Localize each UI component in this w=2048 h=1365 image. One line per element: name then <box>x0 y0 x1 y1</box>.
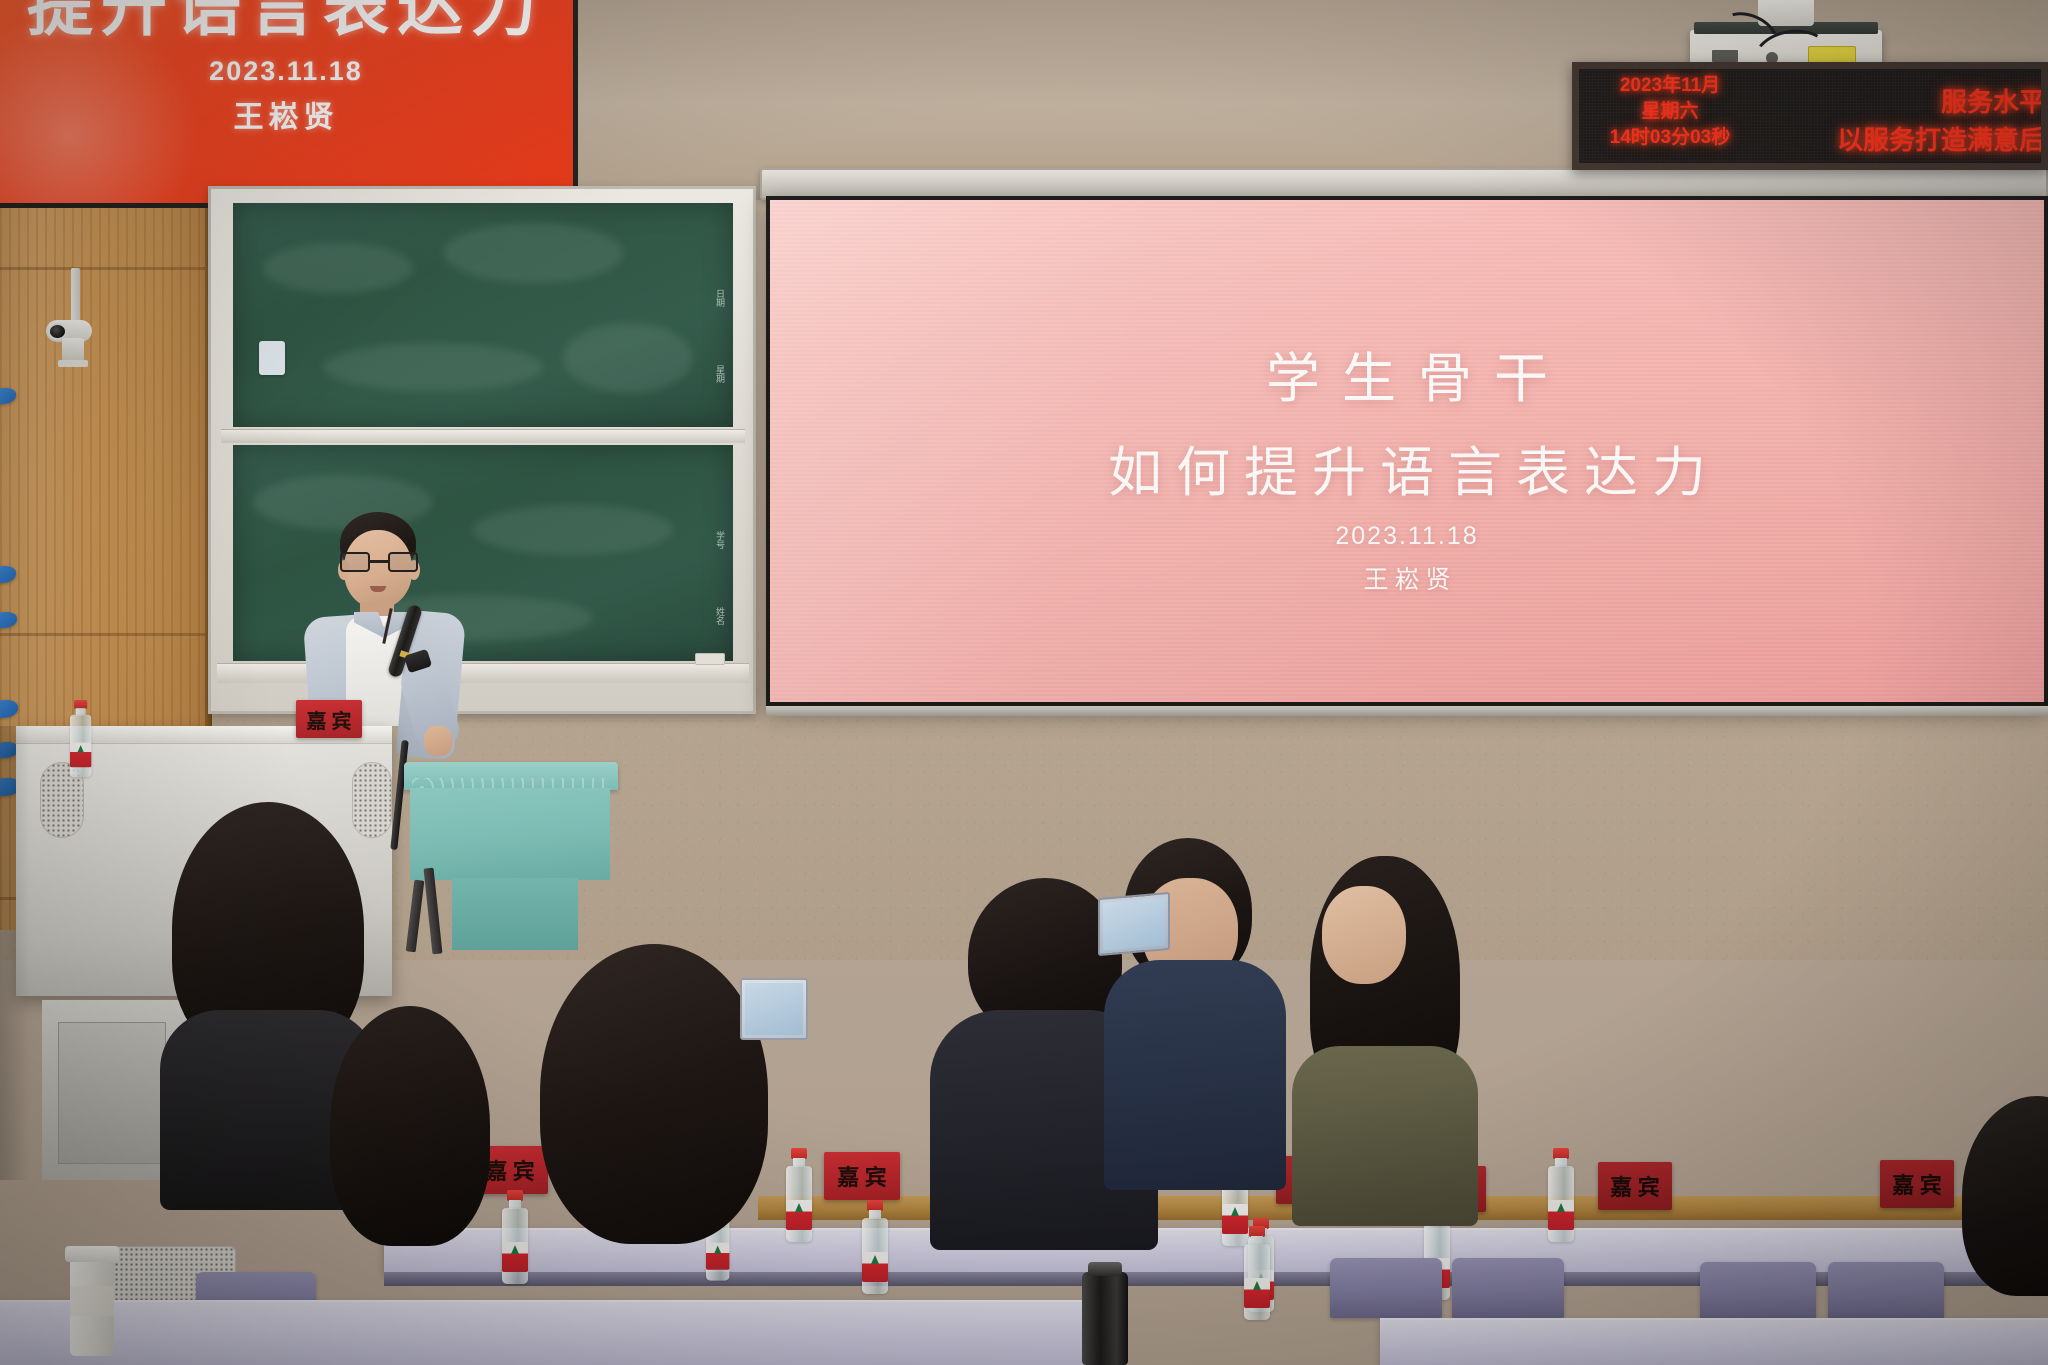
lectern-body <box>410 788 610 880</box>
board-column-label-4: 姓名 <box>709 581 725 651</box>
secondary-led-banner: 提升语言表达力 2023.11.18 王崧贤 <box>0 0 578 208</box>
name-card-6: 嘉宾 <box>1598 1162 1672 1210</box>
podium-cabinet-door-left[interactable] <box>58 1022 166 1164</box>
led-slogan-line1: 服务水平 <box>1733 83 2045 121</box>
led-date: 2023年11月 <box>1587 73 1753 99</box>
laptop-icon[interactable] <box>740 978 808 1040</box>
projection-screen-bottom-bar <box>766 706 2048 716</box>
coffee-cup-icon[interactable] <box>68 1246 116 1356</box>
chalkboard-mid-rail <box>221 429 745 443</box>
chalkboard-upper-pane <box>233 203 733 427</box>
board-column-label-2: 星期 <box>709 339 725 409</box>
led-slogan-block: 服务水平 以服务打造满意后 <box>1733 83 2045 159</box>
lectern-base <box>452 878 578 950</box>
presenter-glasses <box>340 552 418 572</box>
chair-3 <box>1700 1262 1816 1322</box>
projection-screen-frame: 学生骨干 如何提升语言表达力 2023.11.18 王崧贤 <box>766 196 2048 706</box>
lectern-trim <box>412 778 610 788</box>
board-column-label-3: 学号 <box>709 505 725 575</box>
desk-row-front-right <box>1380 1318 2048 1365</box>
presenter-right-hand <box>424 726 452 756</box>
slide-presenter: 王崧贤 <box>770 560 2044 596</box>
slide-title-line2: 如何提升语言表达力 <box>770 428 2044 507</box>
chalkboard: 日期 星期 学号 姓名 <box>208 186 756 714</box>
projection-screen: 学生骨干 如何提升语言表达力 2023.11.18 王崧贤 <box>770 200 2044 702</box>
thermos-icon[interactable] <box>1082 1272 1128 1365</box>
banner-date: 2023.11.18 <box>0 56 573 87</box>
led-slogan-line2: 以服务打造满意后 <box>1733 121 2045 159</box>
name-card-podium: 嘉宾 <box>296 700 362 738</box>
chair-1 <box>1330 1258 1442 1318</box>
banner-title: 提升语言表达力 <box>0 0 573 49</box>
lecture-hall-photo: 提升语言表达力 2023.11.18 王崧贤 日期 星期 学号 姓名 学生骨干 <box>0 0 2048 1365</box>
slide-title-line1: 学生骨干 <box>770 334 2044 413</box>
led-weekday: 星期六 <box>1587 99 1753 125</box>
name-card-7: 嘉宾 <box>1880 1160 1954 1208</box>
desk-row-front <box>0 1300 1100 1365</box>
laptop-icon[interactable] <box>1098 892 1170 956</box>
board-column-label-1: 日期 <box>709 263 725 333</box>
board-eraser-icon[interactable] <box>695 653 725 665</box>
podium-speaker-right <box>352 762 392 838</box>
chair-2 <box>1452 1258 1564 1318</box>
security-camera-icon <box>40 268 102 378</box>
chair-4 <box>1828 1262 1944 1322</box>
led-information-sign: 2023年11月 星期六 14时03分03秒 服务水平 以服务打造满意后 <box>1572 62 2048 170</box>
name-card-3: 嘉宾 <box>824 1152 900 1200</box>
chalk-stick-icon[interactable] <box>259 341 285 375</box>
banner-presenter: 王崧贤 <box>0 92 573 136</box>
led-datetime-block: 2023年11月 星期六 14时03分03秒 <box>1587 73 1753 151</box>
led-time: 14时03分03秒 <box>1587 125 1753 151</box>
slide-date: 2023.11.18 <box>770 522 2044 551</box>
